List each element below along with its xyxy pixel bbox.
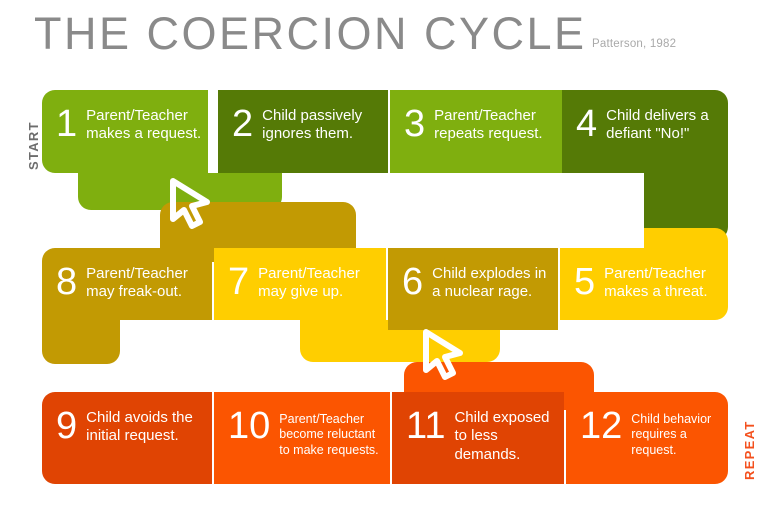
step-text: Child exposed to less demands. [454,406,564,464]
step-number: 1 [56,105,77,143]
step-number: 8 [56,263,77,301]
step-text: Child explodes in a nuclear rage. [432,262,558,302]
infographic-canvas: THE COERCION CYCLE Patterson, 1982 START… [0,0,768,506]
step-number: 10 [228,407,270,445]
step-card-6[interactable]: 6 Child explodes in a nuclear rage. [388,248,558,330]
step-card-8[interactable]: 8 Parent/Teacher may freak-out. [42,248,212,320]
step-text: Parent/Teacher may freak-out. [86,262,212,302]
step-number: 5 [574,263,595,301]
step-text: Child delivers a defiant "No!" [606,104,728,144]
step-text: Child avoids the initial request. [86,406,212,446]
step-card-5[interactable]: 5 Parent/Teacher makes a threat. [560,248,728,320]
step-number: 6 [402,263,423,301]
repeat-label: REPEAT [742,420,757,480]
step-text: Parent/Teacher become reluctant to make … [279,406,390,458]
step-number: 11 [406,407,445,445]
step-number: 9 [56,407,77,445]
step-card-4[interactable]: 4 Child delivers a defiant "No!" [562,90,728,173]
step-text: Parent/Teacher makes a threat. [604,262,728,302]
step-number: 7 [228,263,249,301]
connector-gold-descender [42,320,120,364]
step-card-12[interactable]: 12 Child behavior requires a request. [566,392,728,484]
step-card-11[interactable]: 11 Child exposed to less demands. [392,392,564,484]
step-card-1[interactable]: 1 Parent/Teacher makes a request. [42,90,208,173]
step-number: 12 [580,407,622,445]
header: THE COERCION CYCLE Patterson, 1982 [0,0,768,86]
step-card-2[interactable]: 2 Child passively ignores them. [218,90,388,173]
start-label: START [26,121,41,170]
step-text: Child passively ignores them. [262,104,388,144]
step-card-3[interactable]: 3 Parent/Teacher repeats request. [390,90,562,173]
step-number: 3 [404,105,425,143]
step-card-9[interactable]: 9 Child avoids the initial request. [42,392,212,484]
step-text: Child behavior requires a request. [631,406,728,458]
page-title: THE COERCION CYCLE [34,8,587,60]
step-number: 4 [576,105,597,143]
step-text: Parent/Teacher repeats request. [434,104,562,144]
attribution-citation: Patterson, 1982 [592,38,676,50]
step-card-10[interactable]: 10 Parent/Teacher become reluctant to ma… [214,392,390,484]
step-text: Parent/Teacher may give up. [258,262,386,302]
step-number: 2 [232,105,253,143]
step-text: Parent/Teacher makes a request. [86,104,208,144]
step-card-7[interactable]: 7 Parent/Teacher may give up. [214,248,386,320]
